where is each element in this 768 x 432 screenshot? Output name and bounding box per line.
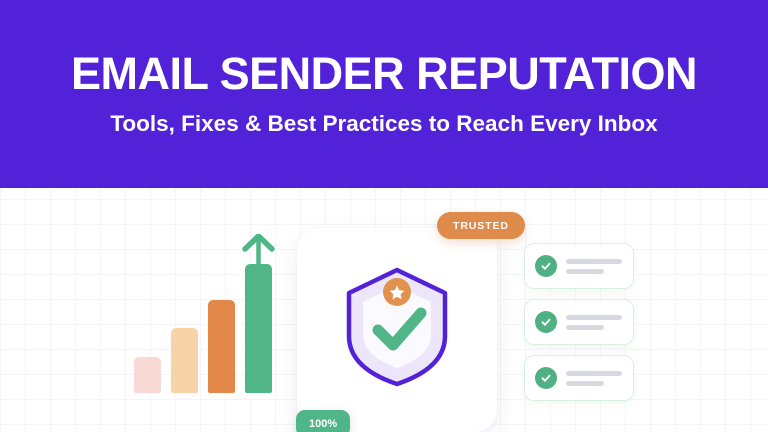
check-icon bbox=[535, 255, 557, 277]
placeholder-line bbox=[566, 325, 604, 330]
trend-up-arrow-icon bbox=[242, 234, 275, 264]
chart-bar-2 bbox=[171, 328, 198, 393]
score-badge: 100% bbox=[296, 410, 350, 432]
placeholder-line bbox=[566, 259, 622, 264]
trusted-badge: TRUSTED bbox=[437, 212, 525, 239]
placeholder-line bbox=[566, 315, 622, 320]
bar-chart bbox=[134, 188, 294, 432]
placeholder-lines bbox=[566, 315, 622, 330]
placeholder-line bbox=[566, 269, 604, 274]
chart-bar-1 bbox=[134, 357, 161, 393]
header-banner: EMAIL SENDER REPUTATION Tools, Fixes & B… bbox=[0, 0, 768, 188]
shield-check-icon bbox=[342, 266, 452, 388]
list-item bbox=[524, 243, 634, 289]
checklist bbox=[524, 243, 634, 411]
page-subtitle: Tools, Fixes & Best Practices to Reach E… bbox=[110, 109, 657, 139]
reputation-card bbox=[297, 228, 497, 432]
check-icon bbox=[535, 367, 557, 389]
check-icon bbox=[535, 311, 557, 333]
list-item bbox=[524, 299, 634, 345]
list-item bbox=[524, 355, 634, 401]
chart-bar-4 bbox=[245, 264, 272, 393]
placeholder-line bbox=[566, 381, 604, 386]
page-title: EMAIL SENDER REPUTATION bbox=[0, 49, 768, 98]
placeholder-line bbox=[566, 371, 622, 376]
chart-bar-3 bbox=[208, 300, 235, 393]
placeholder-lines bbox=[566, 259, 622, 274]
placeholder-lines bbox=[566, 371, 622, 386]
page-root: EMAIL SENDER REPUTATION Tools, Fixes & B… bbox=[0, 0, 768, 432]
